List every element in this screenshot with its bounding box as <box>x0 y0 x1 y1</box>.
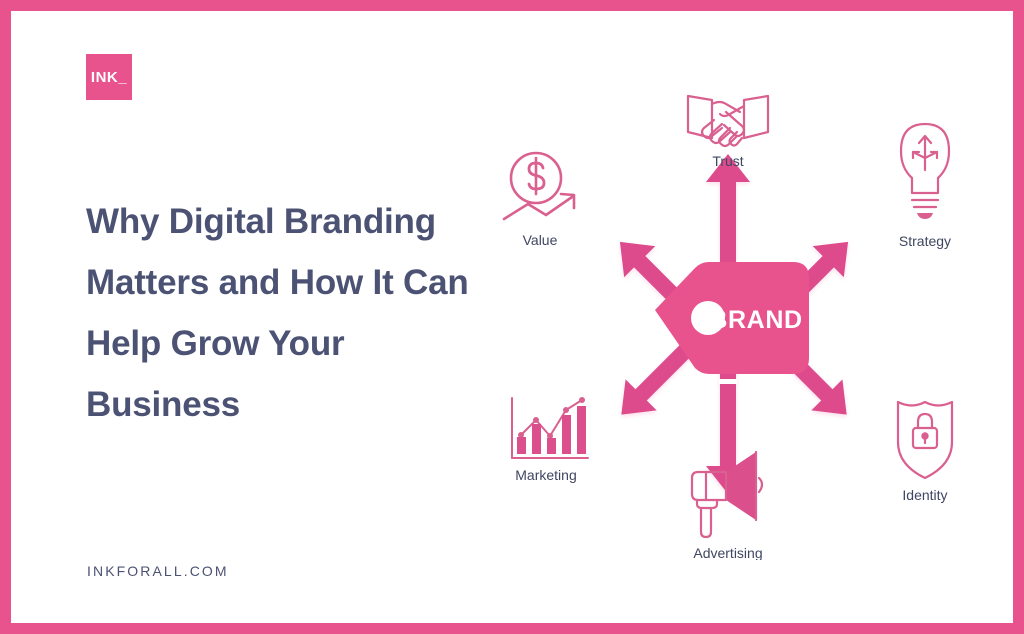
node-label-advertising: Advertising <box>693 545 762 560</box>
brand-tag-label: BRAND <box>709 306 802 334</box>
node-trust[interactable]: Trust <box>688 96 768 169</box>
node-label-marketing: Marketing <box>515 467 576 483</box>
node-strategy[interactable]: Strategy <box>899 124 951 249</box>
node-identity[interactable]: Identity <box>898 402 952 503</box>
brand-pillars-diagram: BRAND Value <box>488 80 1000 560</box>
handshake-icon <box>688 96 768 146</box>
ink-logo[interactable]: INK_ <box>86 54 132 100</box>
node-label-value: Value <box>523 232 558 248</box>
poster-canvas: INK_ Why Digital Branding Matters and Ho… <box>0 0 1024 634</box>
node-value[interactable]: Value <box>504 153 574 248</box>
dollar-growth-icon <box>504 153 574 219</box>
bar-chart-icon <box>512 397 588 458</box>
node-label-trust: Trust <box>712 153 743 169</box>
footer-website-url: INKFORALL.COM <box>87 563 229 579</box>
lightbulb-icon <box>901 124 949 219</box>
node-marketing[interactable]: Marketing <box>512 397 588 483</box>
node-label-strategy: Strategy <box>899 233 951 249</box>
ink-logo-text: INK_ <box>91 70 127 85</box>
node-label-identity: Identity <box>902 487 947 503</box>
page-title: Why Digital Branding Matters and How It … <box>86 191 476 435</box>
shield-lock-icon <box>898 402 952 478</box>
